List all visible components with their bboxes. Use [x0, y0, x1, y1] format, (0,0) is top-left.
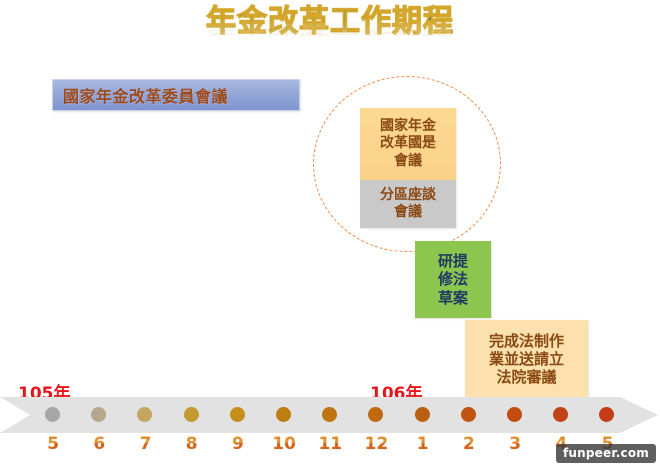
timeline-dot: [507, 407, 522, 422]
timeline-month-label: 3: [500, 434, 530, 454]
timeline-dot: [184, 407, 199, 422]
timeline-month-label: 8: [177, 434, 207, 454]
committee-box[interactable]: 國家年金改革委員會議: [52, 79, 300, 111]
committee-box-label: 國家年金改革委員會議: [63, 83, 228, 107]
timeline-dot: [230, 407, 245, 422]
national-affairs-conference-box[interactable]: 國家年金 改革國是 會議: [360, 108, 456, 180]
draft-amendment-box[interactable]: 研提 修法 草案: [415, 241, 491, 318]
timeline-month-label: 7: [130, 434, 160, 454]
page-title-reflection: 年金改革工作期程: [0, 18, 660, 35]
timeline-dot: [461, 407, 476, 422]
box-line: 研提: [438, 252, 468, 270]
timeline-dot: [45, 407, 60, 422]
box-line: 改革國是: [380, 135, 436, 152]
box-line: 會議: [394, 204, 422, 221]
legislation-box[interactable]: 完成法制作 業並送請立 法院審議: [465, 320, 588, 398]
box-line: 草案: [438, 289, 468, 307]
timeline-month-label: 5: [38, 434, 68, 454]
timeline-dot: [276, 407, 291, 422]
box-line: 完成法制作: [489, 332, 564, 350]
timeline-month-label: 2: [454, 434, 484, 454]
page-title: 年金改革工作期程: [0, 6, 660, 38]
box-line: 法院審議: [496, 368, 556, 386]
timeline-month-label: 9: [223, 434, 253, 454]
box-line: 會議: [394, 153, 422, 170]
box-line: 國家年金: [380, 118, 436, 135]
timeline-dot: [415, 407, 430, 422]
timeline-month-label: 12: [361, 434, 391, 454]
watermark: funpeer.com: [556, 444, 656, 463]
timeline-month-label: 1: [408, 434, 438, 454]
timeline-month-label: 6: [84, 434, 114, 454]
box-line: 分區座談: [380, 187, 436, 204]
title-block: 年金改革工作期程 年金改革工作期程: [0, 6, 660, 67]
timeline-month-label: 10: [269, 434, 299, 454]
box-line: 業並送請立: [489, 350, 564, 368]
timeline-month-label: 11: [315, 434, 345, 454]
box-line: 修法: [438, 270, 468, 288]
slide-canvas: 年金改革工作期程 年金改革工作期程 國家年金改革委員會議 國家年金 改革國是 會…: [0, 0, 660, 467]
regional-forum-box[interactable]: 分區座談 會議: [360, 180, 456, 228]
